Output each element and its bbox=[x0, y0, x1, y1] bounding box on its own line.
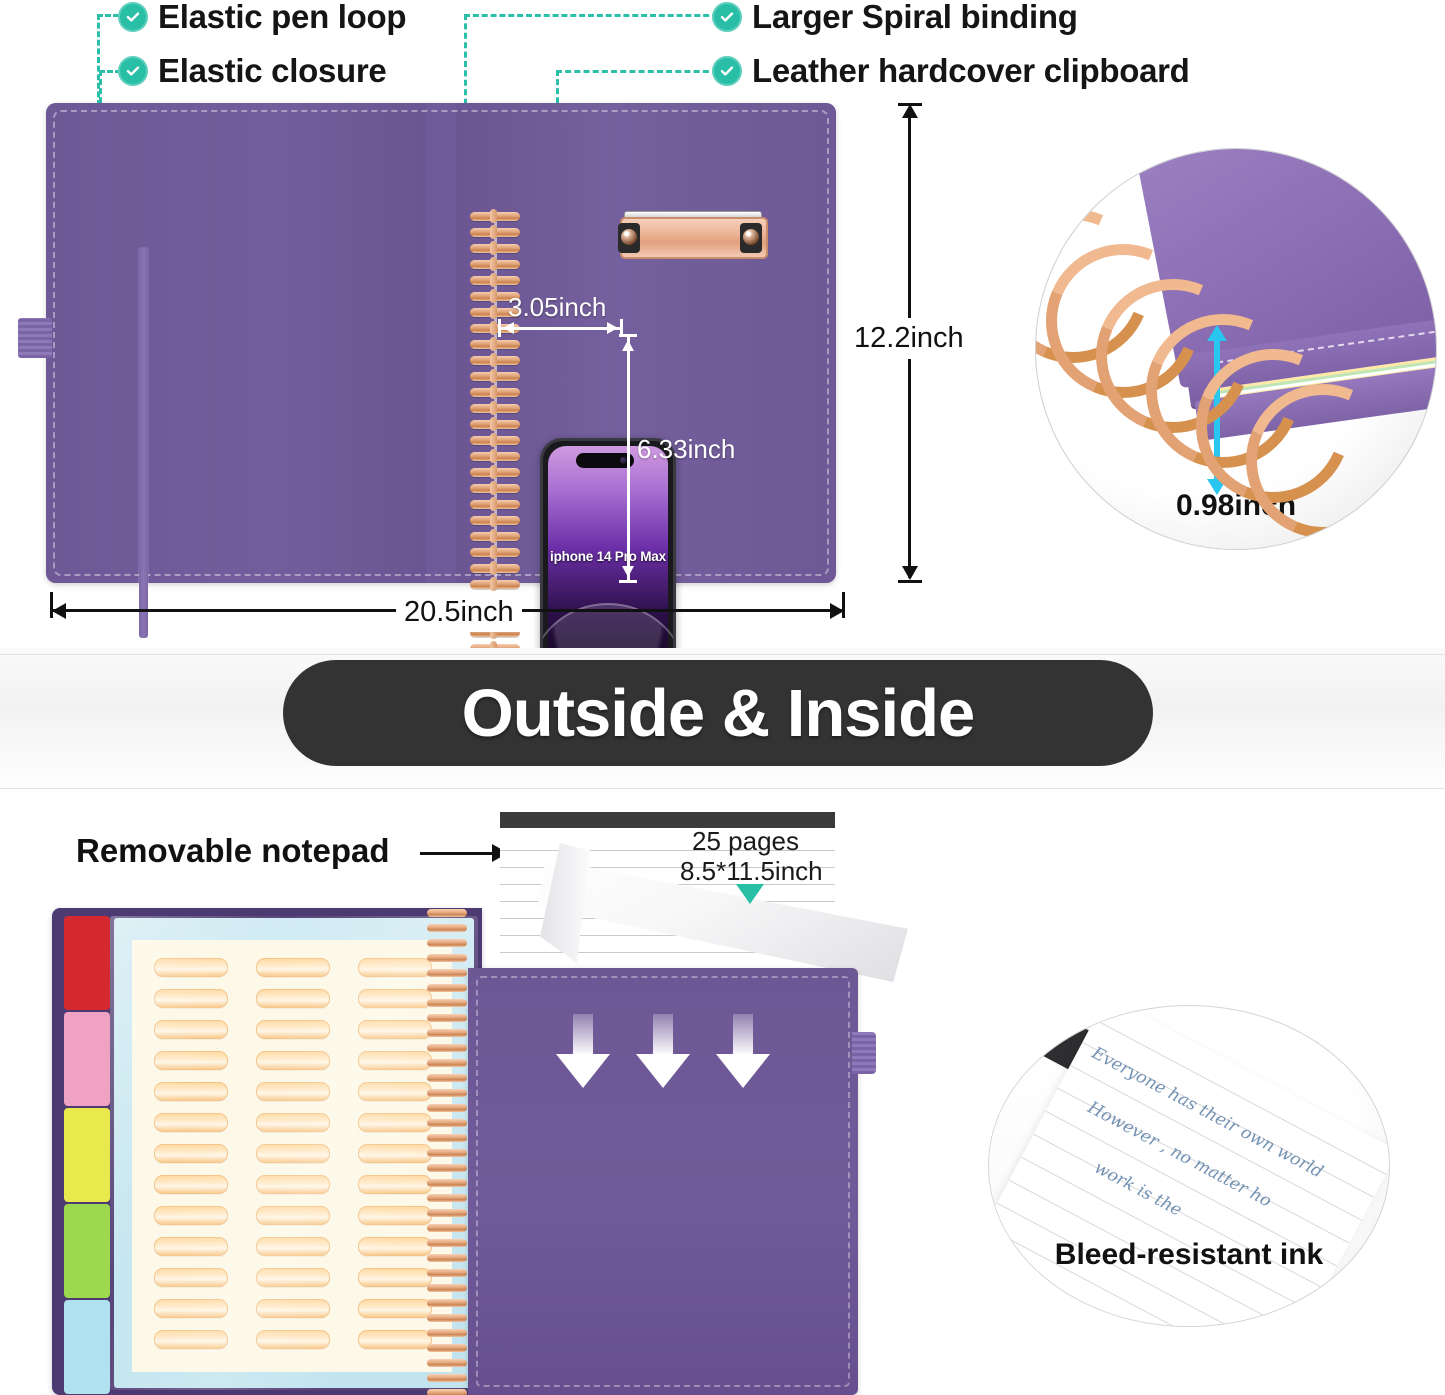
dynamic-island bbox=[576, 453, 634, 468]
index-tab-1[interactable] bbox=[64, 916, 110, 1010]
sticker-label bbox=[358, 1237, 432, 1256]
sticker-label bbox=[256, 1144, 330, 1163]
planner-spiral-coil bbox=[424, 1268, 470, 1279]
sticker-label bbox=[358, 1144, 432, 1163]
callout-label: Elastic closure bbox=[158, 52, 386, 90]
dim-board-height-arrow-up bbox=[902, 104, 918, 118]
clip-rivet-right bbox=[743, 229, 759, 245]
sticker-label bbox=[154, 1237, 228, 1256]
dim-phone-width-line bbox=[500, 327, 620, 330]
dimension-phone-width: 3.05inch bbox=[508, 292, 606, 323]
index-tab-2[interactable] bbox=[64, 1012, 110, 1106]
dim-phone-width-arrow-right bbox=[607, 322, 618, 334]
spiral-binding-detail-inset: 0.98inch bbox=[1035, 148, 1437, 550]
divider-line-bottom bbox=[0, 788, 1445, 789]
dim-phone-height-arrow-up bbox=[622, 340, 634, 351]
dash-line-clip-h bbox=[556, 70, 718, 73]
rule-line bbox=[1070, 1065, 1362, 1221]
clipboard-clip bbox=[612, 209, 772, 261]
dimension-phone-height: 6.33inch bbox=[637, 434, 735, 465]
spiral-coil bbox=[466, 227, 524, 239]
removable-notepad-label: Removable notepad bbox=[76, 832, 390, 870]
dash-line-spiral-h bbox=[464, 14, 718, 17]
callout-leather-hardcover-clipboard: Leather hardcover clipboard bbox=[712, 52, 1190, 90]
planner-spiral-coil bbox=[424, 1313, 470, 1324]
clip-rivet-left bbox=[621, 229, 637, 245]
arrow-down-icon bbox=[636, 1014, 690, 1088]
planner-spiral-coil bbox=[424, 1283, 470, 1294]
sticker-label bbox=[358, 1268, 432, 1287]
dim-board-width-arrow-left bbox=[52, 603, 66, 619]
callout-elastic-closure: Elastic closure bbox=[118, 52, 386, 90]
sticker-sheet-holder bbox=[114, 918, 474, 1388]
spiral-coil bbox=[466, 435, 524, 447]
check-circle-icon bbox=[712, 2, 742, 32]
callout-larger-spiral-binding: Larger Spiral binding bbox=[712, 0, 1078, 36]
planner-spiral-coil bbox=[424, 998, 470, 1009]
top-section: Elastic pen loop Elastic closure Larger … bbox=[0, 0, 1445, 645]
divider-line-top bbox=[0, 654, 1445, 655]
dim-board-height-tick-top bbox=[898, 103, 922, 106]
arrow-head bbox=[556, 1054, 610, 1088]
spiral-coil bbox=[466, 387, 524, 399]
index-tab-4[interactable] bbox=[64, 1204, 110, 1298]
banner-title: Outside & Inside bbox=[462, 675, 975, 752]
callout-label: Elastic pen loop bbox=[158, 0, 406, 36]
sticker-label bbox=[256, 1020, 330, 1039]
planner-spiral-coil bbox=[424, 1388, 470, 1395]
planner-spiral-coil bbox=[424, 1013, 470, 1024]
product-infographic: Elastic pen loop Elastic closure Larger … bbox=[0, 0, 1445, 1395]
callout-label: Larger Spiral binding bbox=[752, 0, 1078, 36]
sticker-label bbox=[154, 1299, 228, 1318]
dash-line-spiral-v bbox=[464, 14, 467, 114]
planner-spiral-binding bbox=[424, 908, 470, 1395]
elastic-pen-loop bbox=[139, 248, 148, 638]
sticker-label bbox=[358, 1082, 432, 1101]
dim-board-width-tick-right bbox=[842, 592, 845, 618]
bleed-resistant-ink-inset: Everyone has their own worldHowever , no… bbox=[988, 1005, 1390, 1327]
sticker-label bbox=[256, 1082, 330, 1101]
notepad-page-count: 25 pages bbox=[692, 826, 799, 857]
planner-spiral-coil bbox=[424, 1133, 470, 1144]
planner-spiral-coil bbox=[424, 908, 470, 919]
bleed-resistant-ink-label: Bleed-resistant ink bbox=[989, 1238, 1389, 1272]
spiral-coil bbox=[466, 355, 524, 367]
planner-spiral-coil bbox=[424, 1238, 470, 1249]
dim-phone-height-line bbox=[627, 336, 630, 582]
sticker-label bbox=[358, 1051, 432, 1070]
arrow-down-icon bbox=[556, 1014, 610, 1088]
planner-spiral-coil bbox=[424, 1058, 470, 1069]
planner-spiral-coil bbox=[424, 1328, 470, 1339]
planner-spiral-coil bbox=[424, 1298, 470, 1309]
callout-elastic-pen-loop: Elastic pen loop bbox=[118, 0, 406, 36]
sticker-label bbox=[154, 989, 228, 1008]
left-cover bbox=[46, 103, 426, 583]
rule-line bbox=[1021, 1157, 1313, 1313]
sticker-label bbox=[154, 1330, 228, 1349]
planner-spiral-coil bbox=[424, 923, 470, 934]
planner-spiral-coil bbox=[424, 1178, 470, 1189]
sticker-label bbox=[256, 1113, 330, 1132]
planner-spiral-coil bbox=[424, 1043, 470, 1054]
planner-spiral-coil bbox=[424, 1073, 470, 1084]
dim-phone-width-arrow-left bbox=[503, 322, 514, 334]
spiral-coil bbox=[466, 515, 524, 527]
sticker-label bbox=[256, 1330, 330, 1349]
planner-spiral-coil bbox=[424, 1358, 470, 1369]
arrow-down-icon bbox=[716, 1014, 770, 1088]
spiral-coil bbox=[466, 451, 524, 463]
sticker-label bbox=[256, 958, 330, 977]
sticker-label bbox=[154, 1175, 228, 1194]
spiral-coil bbox=[466, 211, 524, 223]
check-circle-icon bbox=[712, 56, 742, 86]
spiral-coil bbox=[466, 531, 524, 543]
sticker-label bbox=[358, 1020, 432, 1039]
planner-spiral-coil bbox=[424, 983, 470, 994]
dim-board-width-tick-left bbox=[50, 592, 53, 618]
camera-lens-icon bbox=[620, 457, 627, 464]
sticker-label bbox=[256, 989, 330, 1008]
spiral-coil bbox=[466, 547, 524, 559]
planner-spiral-coil bbox=[424, 938, 470, 949]
dim-board-height-arrow-down bbox=[902, 566, 918, 580]
sticker-label bbox=[154, 958, 228, 977]
index-tab-5[interactable] bbox=[64, 1300, 110, 1394]
spiral-coil bbox=[466, 579, 524, 591]
sticker-label bbox=[358, 989, 432, 1008]
planner-spiral-coil bbox=[424, 1208, 470, 1219]
check-circle-icon bbox=[118, 2, 148, 32]
handwriting-line: work is the bbox=[1091, 1158, 1185, 1221]
sticker-label bbox=[154, 1020, 228, 1039]
planner-spiral-coil bbox=[424, 1088, 470, 1099]
elastic-pen-loop-tab bbox=[852, 1032, 876, 1074]
sticker-label bbox=[154, 1268, 228, 1287]
sticker-label bbox=[358, 1175, 432, 1194]
sticker-label bbox=[256, 1268, 330, 1287]
dim-phone-height-arrow-down bbox=[622, 566, 634, 577]
dimension-board-height: 12.2inch bbox=[854, 322, 964, 354]
notebook-clipboard-product-image: iphone 14 Pro Max bbox=[46, 103, 836, 583]
sticker-label bbox=[358, 1113, 432, 1132]
dim-phone-height-tick-bottom bbox=[619, 580, 637, 583]
planner-spiral-coil bbox=[424, 953, 470, 964]
sticker-label bbox=[358, 1330, 432, 1349]
arrow-head bbox=[636, 1054, 690, 1088]
check-circle-icon bbox=[118, 56, 148, 86]
planner-spiral-coil bbox=[424, 1103, 470, 1114]
planner-left-page bbox=[52, 908, 482, 1395]
sticker-label bbox=[154, 1082, 228, 1101]
planner-right-cover bbox=[468, 968, 858, 1395]
arrow-shaft bbox=[733, 1014, 753, 1056]
spiral-coil bbox=[466, 403, 524, 415]
sticker-label bbox=[256, 1237, 330, 1256]
spiral-coil bbox=[466, 467, 524, 479]
sticker-label bbox=[256, 1299, 330, 1318]
sticker-label bbox=[358, 1299, 432, 1318]
sticker-label bbox=[154, 1206, 228, 1225]
planner-spiral-coil bbox=[424, 1148, 470, 1159]
spiral-coil bbox=[466, 339, 524, 351]
sticker-label bbox=[154, 1051, 228, 1070]
sticker-label bbox=[154, 1144, 228, 1163]
planner-spiral-coil bbox=[424, 1163, 470, 1174]
planner-spiral-coil bbox=[424, 1118, 470, 1129]
spiral-coil bbox=[466, 371, 524, 383]
planner-spiral-coil bbox=[424, 1253, 470, 1264]
dimension-board-width: 20.5inch bbox=[404, 596, 514, 628]
arrow-shaft bbox=[653, 1014, 673, 1056]
section-banner: Outside & Inside bbox=[283, 660, 1153, 766]
sticker-label bbox=[154, 1113, 228, 1132]
callout-label: Leather hardcover clipboard bbox=[752, 52, 1190, 90]
spiral-coil bbox=[466, 275, 524, 287]
arrow-shaft bbox=[573, 1014, 593, 1056]
planner-spiral-coil bbox=[424, 1373, 470, 1384]
sticker-label bbox=[256, 1206, 330, 1225]
triangle-down-icon bbox=[736, 884, 764, 904]
planner-spiral-coil bbox=[424, 1028, 470, 1039]
spiral-coil bbox=[466, 243, 524, 255]
planner-spiral-coil bbox=[424, 1223, 470, 1234]
arrow-right-icon bbox=[420, 852, 506, 855]
sticker-label bbox=[256, 1051, 330, 1070]
spiral-coil bbox=[466, 483, 524, 495]
spiral-coil bbox=[466, 499, 524, 511]
index-tab-3[interactable] bbox=[64, 1108, 110, 1202]
dim-phone-height-tick-top bbox=[619, 334, 637, 337]
arrow-head bbox=[716, 1054, 770, 1088]
dim-phone-width-tick-left bbox=[498, 319, 501, 337]
planner-spiral-coil bbox=[424, 1343, 470, 1354]
elastic-closure-tab bbox=[18, 318, 52, 358]
spiral-coil bbox=[466, 419, 524, 431]
spiral-coil bbox=[466, 563, 524, 575]
planner-spiral-coil bbox=[424, 1193, 470, 1204]
sticker-label bbox=[256, 1175, 330, 1194]
spiral-coil bbox=[466, 259, 524, 271]
phone-model-label: iphone 14 Pro Max bbox=[543, 549, 673, 564]
dim-board-height-tick-bottom bbox=[898, 580, 922, 583]
sticker-label bbox=[358, 1206, 432, 1225]
sticker-label bbox=[358, 958, 432, 977]
notepad-size: 8.5*11.5inch bbox=[680, 856, 823, 887]
planner-spiral-coil bbox=[424, 968, 470, 979]
handwriting-line: However , no matter ho bbox=[1084, 1098, 1274, 1212]
sticker-sheet-paper bbox=[132, 940, 452, 1372]
